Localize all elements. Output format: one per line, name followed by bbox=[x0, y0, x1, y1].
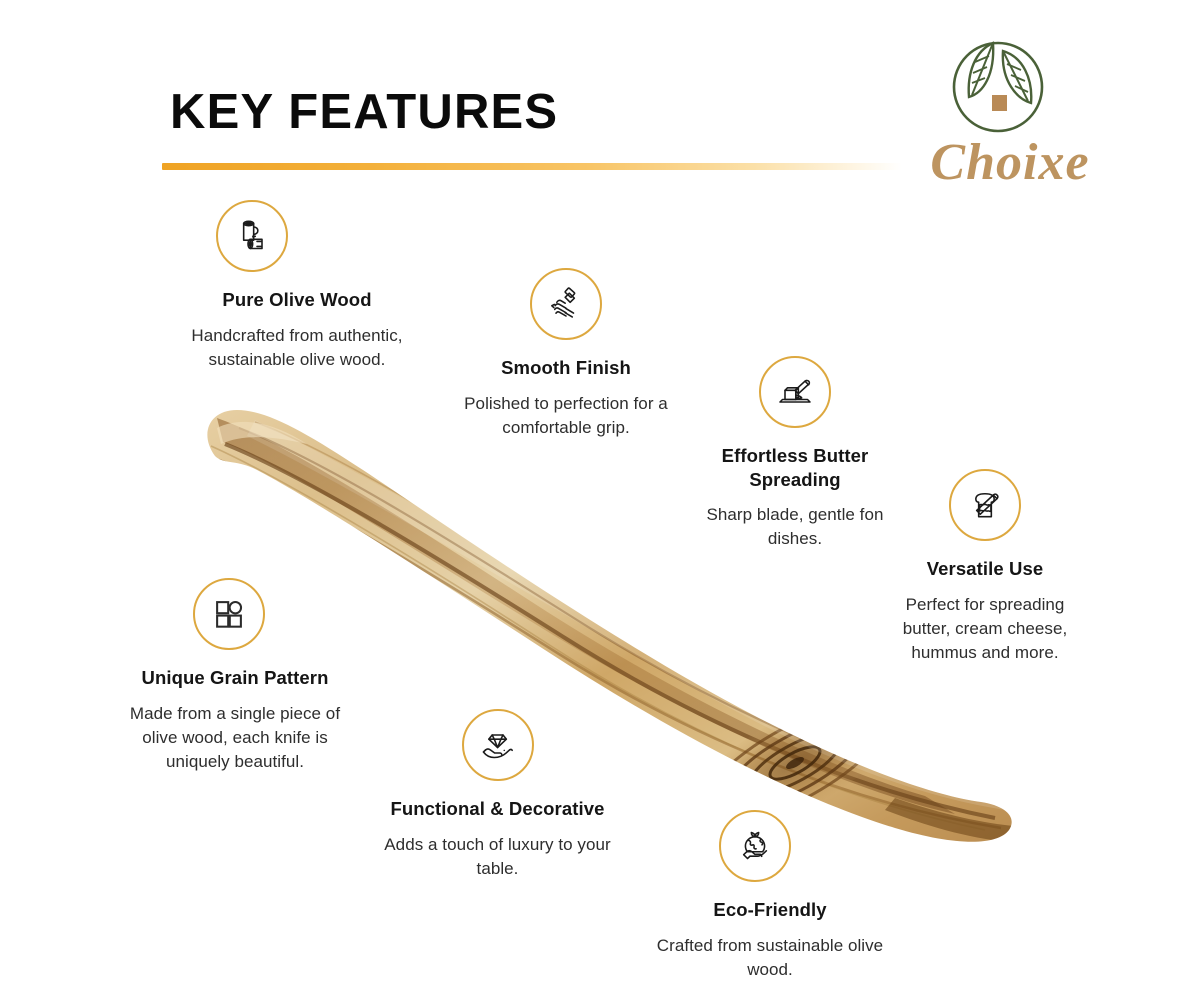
grain-pattern-squares-icon bbox=[193, 578, 265, 650]
title-divider bbox=[162, 163, 902, 170]
feature-description: Adds a touch of luxury to your table. bbox=[375, 833, 620, 881]
page-title: KEY FEATURES bbox=[170, 88, 558, 137]
feature-title: Effortless Butter Spreading bbox=[686, 444, 904, 491]
feature-title: Eco-Friendly bbox=[650, 898, 890, 922]
feature-description: Made from a single piece of olive wood, … bbox=[118, 702, 352, 774]
feature-pure-olive-wood: Pure Olive Wood Handcrafted from authent… bbox=[172, 200, 422, 372]
brand-logo: Choixe bbox=[925, 35, 1095, 195]
feature-description: Polished to perfection for a comfortable… bbox=[461, 392, 671, 440]
feature-title: Functional & Decorative bbox=[375, 797, 620, 821]
feature-versatile-use: Versatile Use Perfect for spreading butt… bbox=[880, 469, 1090, 665]
feature-title: Versatile Use bbox=[880, 557, 1090, 581]
feature-description: Sharp blade, gentle fon dishes. bbox=[686, 503, 904, 551]
feature-description: Crafted from sustainable olive wood. bbox=[650, 934, 890, 982]
feature-unique-grain-pattern: Unique Grain Pattern Made from a single … bbox=[118, 578, 352, 774]
feature-eco-friendly: Eco-Friendly Crafted from sustainable ol… bbox=[650, 810, 890, 982]
feature-functional-decorative: Functional & Decorative Adds a touch of … bbox=[375, 709, 620, 881]
feature-title: Pure Olive Wood bbox=[172, 288, 422, 312]
hand-sanding-block-icon bbox=[530, 268, 602, 340]
leaf-circle-logo-icon bbox=[943, 35, 1053, 140]
feature-description: Handcrafted from authentic, sustainable … bbox=[172, 324, 422, 372]
feature-title: Unique Grain Pattern bbox=[118, 666, 352, 690]
bread-slice-knife-icon bbox=[949, 469, 1021, 541]
hand-diamond-icon bbox=[462, 709, 534, 781]
butter-dish-knife-icon bbox=[759, 356, 831, 428]
feature-description: Perfect for spreading butter, cream chee… bbox=[880, 593, 1090, 665]
feature-smooth-finish: Smooth Finish Polished to perfection for… bbox=[461, 268, 671, 440]
feature-effortless-butter-spreading: Effortless Butter Spreading Sharp blade,… bbox=[686, 356, 904, 552]
hand-globe-sprout-icon bbox=[719, 810, 791, 882]
wood-log-icon bbox=[216, 200, 288, 272]
brand-name: Choixe bbox=[925, 133, 1095, 192]
feature-title: Smooth Finish bbox=[461, 356, 671, 380]
